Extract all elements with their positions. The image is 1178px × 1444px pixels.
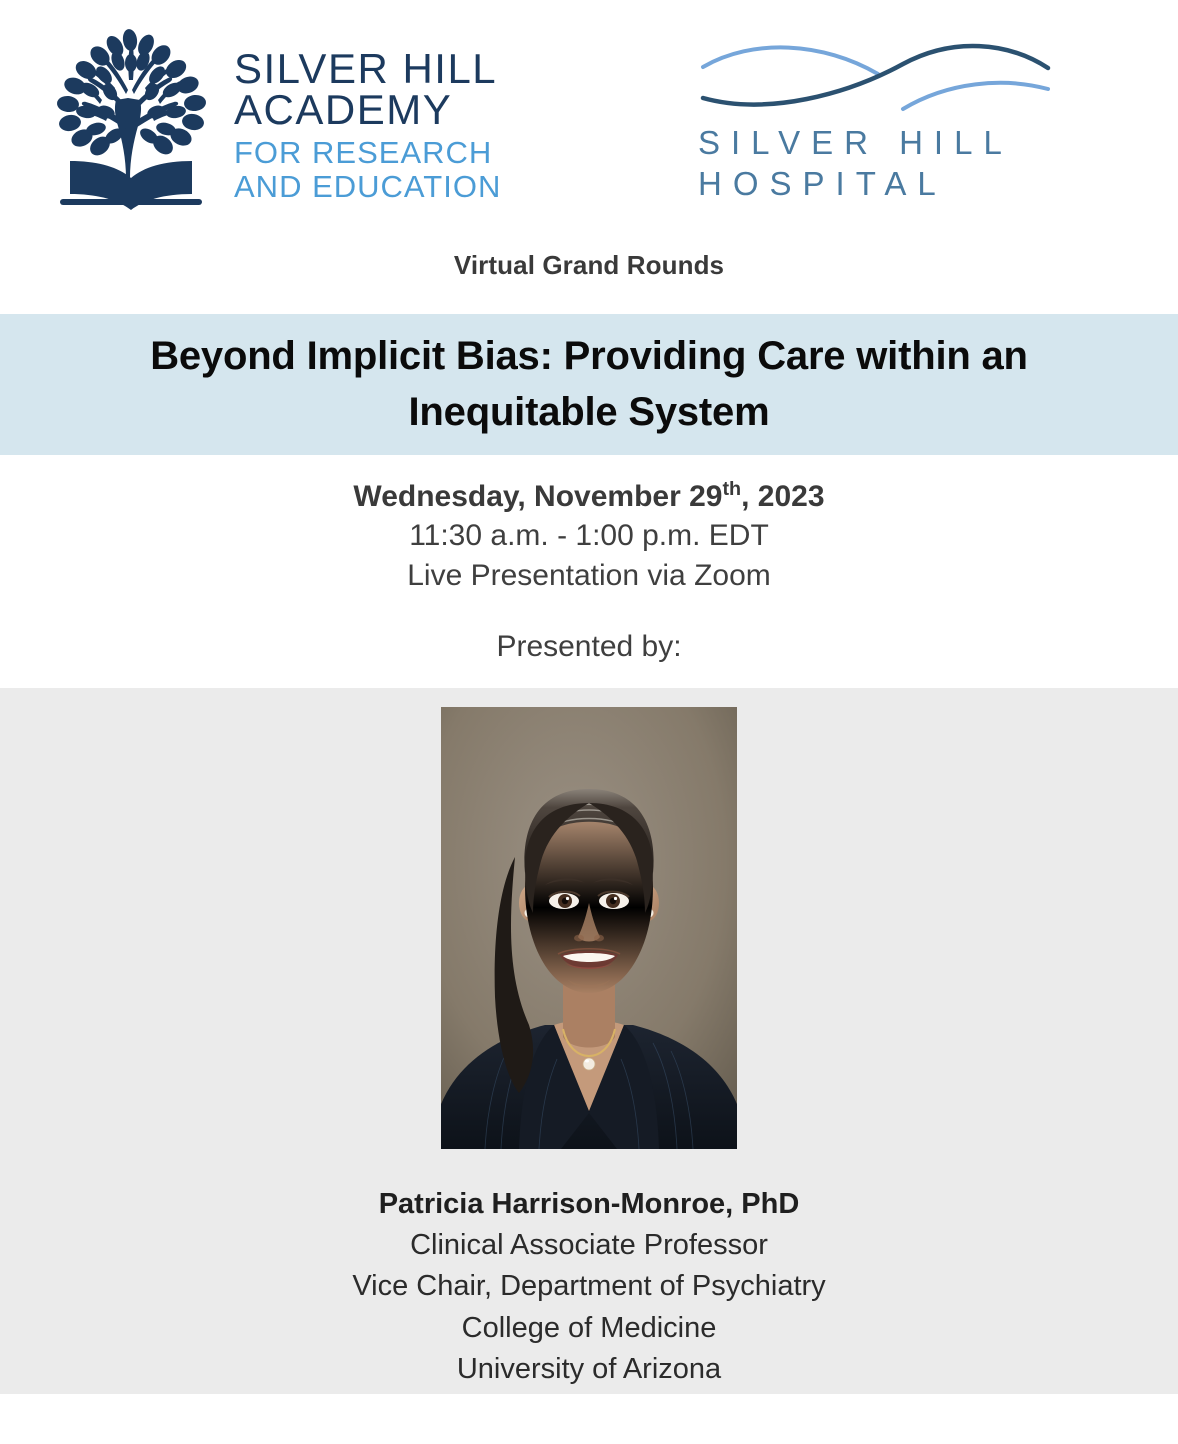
academy-wordmark: SILVER HILL ACADEMY FOR RESEARCH AND EDU… — [234, 38, 501, 203]
academy-tagline-line-2: AND EDUCATION — [234, 171, 501, 203]
speaker-title-3: College of Medicine — [0, 1308, 1178, 1349]
page-title: Beyond Implicit Bias: Providing Care wit… — [89, 329, 1089, 439]
event-date-year: , 2023 — [741, 480, 824, 513]
series-label-band: Virtual Grand Rounds — [0, 250, 1178, 314]
hospital-name-line-2: HOSPITAL — [698, 163, 1058, 204]
silver-hill-academy-logo: SILVER HILL ACADEMY FOR RESEARCH AND EDU… — [42, 28, 501, 213]
hospital-name-line-1: SILVER HILL — [698, 122, 1058, 163]
event-details: Wednesday, November 29th, 2023 11:30 a.m… — [0, 455, 1178, 688]
page-header: SILVER HILL ACADEMY FOR RESEARCH AND EDU… — [0, 0, 1178, 250]
event-date: Wednesday, November 29th, 2023 — [0, 477, 1178, 516]
academy-name-line-1: SILVER HILL — [234, 48, 501, 89]
speaker-info: Patricia Harrison-Monroe, PhD Clinical A… — [0, 1184, 1178, 1390]
tree-on-book-icon — [42, 28, 222, 213]
speaker-headshot — [441, 707, 737, 1149]
speaker-title-2: Vice Chair, Department of Psychiatry — [0, 1266, 1178, 1307]
presented-by-label: Presented by: — [0, 630, 1178, 664]
speaker-title-1: Clinical Associate Professor — [0, 1225, 1178, 1266]
academy-tagline-line-1: FOR RESEARCH — [234, 137, 501, 169]
event-time: 11:30 a.m. - 1:00 p.m. EDT — [0, 516, 1178, 556]
academy-name-line-2: ACADEMY — [234, 89, 501, 130]
series-label: Virtual Grand Rounds — [454, 250, 724, 281]
event-date-main: Wednesday, November 29 — [353, 480, 722, 513]
speaker-title-4: University of Arizona — [0, 1349, 1178, 1390]
wave-swoosh-icon — [698, 34, 1053, 116]
speaker-section: Patricia Harrison-Monroe, PhD Clinical A… — [0, 688, 1178, 1394]
speaker-name: Patricia Harrison-Monroe, PhD — [0, 1184, 1178, 1225]
silver-hill-hospital-logo: SILVER HILL HOSPITAL — [698, 34, 1058, 205]
event-date-ordinal: th — [722, 478, 741, 500]
title-banner: Beyond Implicit Bias: Providing Care wit… — [0, 314, 1178, 455]
event-mode: Live Presentation via Zoom — [0, 556, 1178, 596]
